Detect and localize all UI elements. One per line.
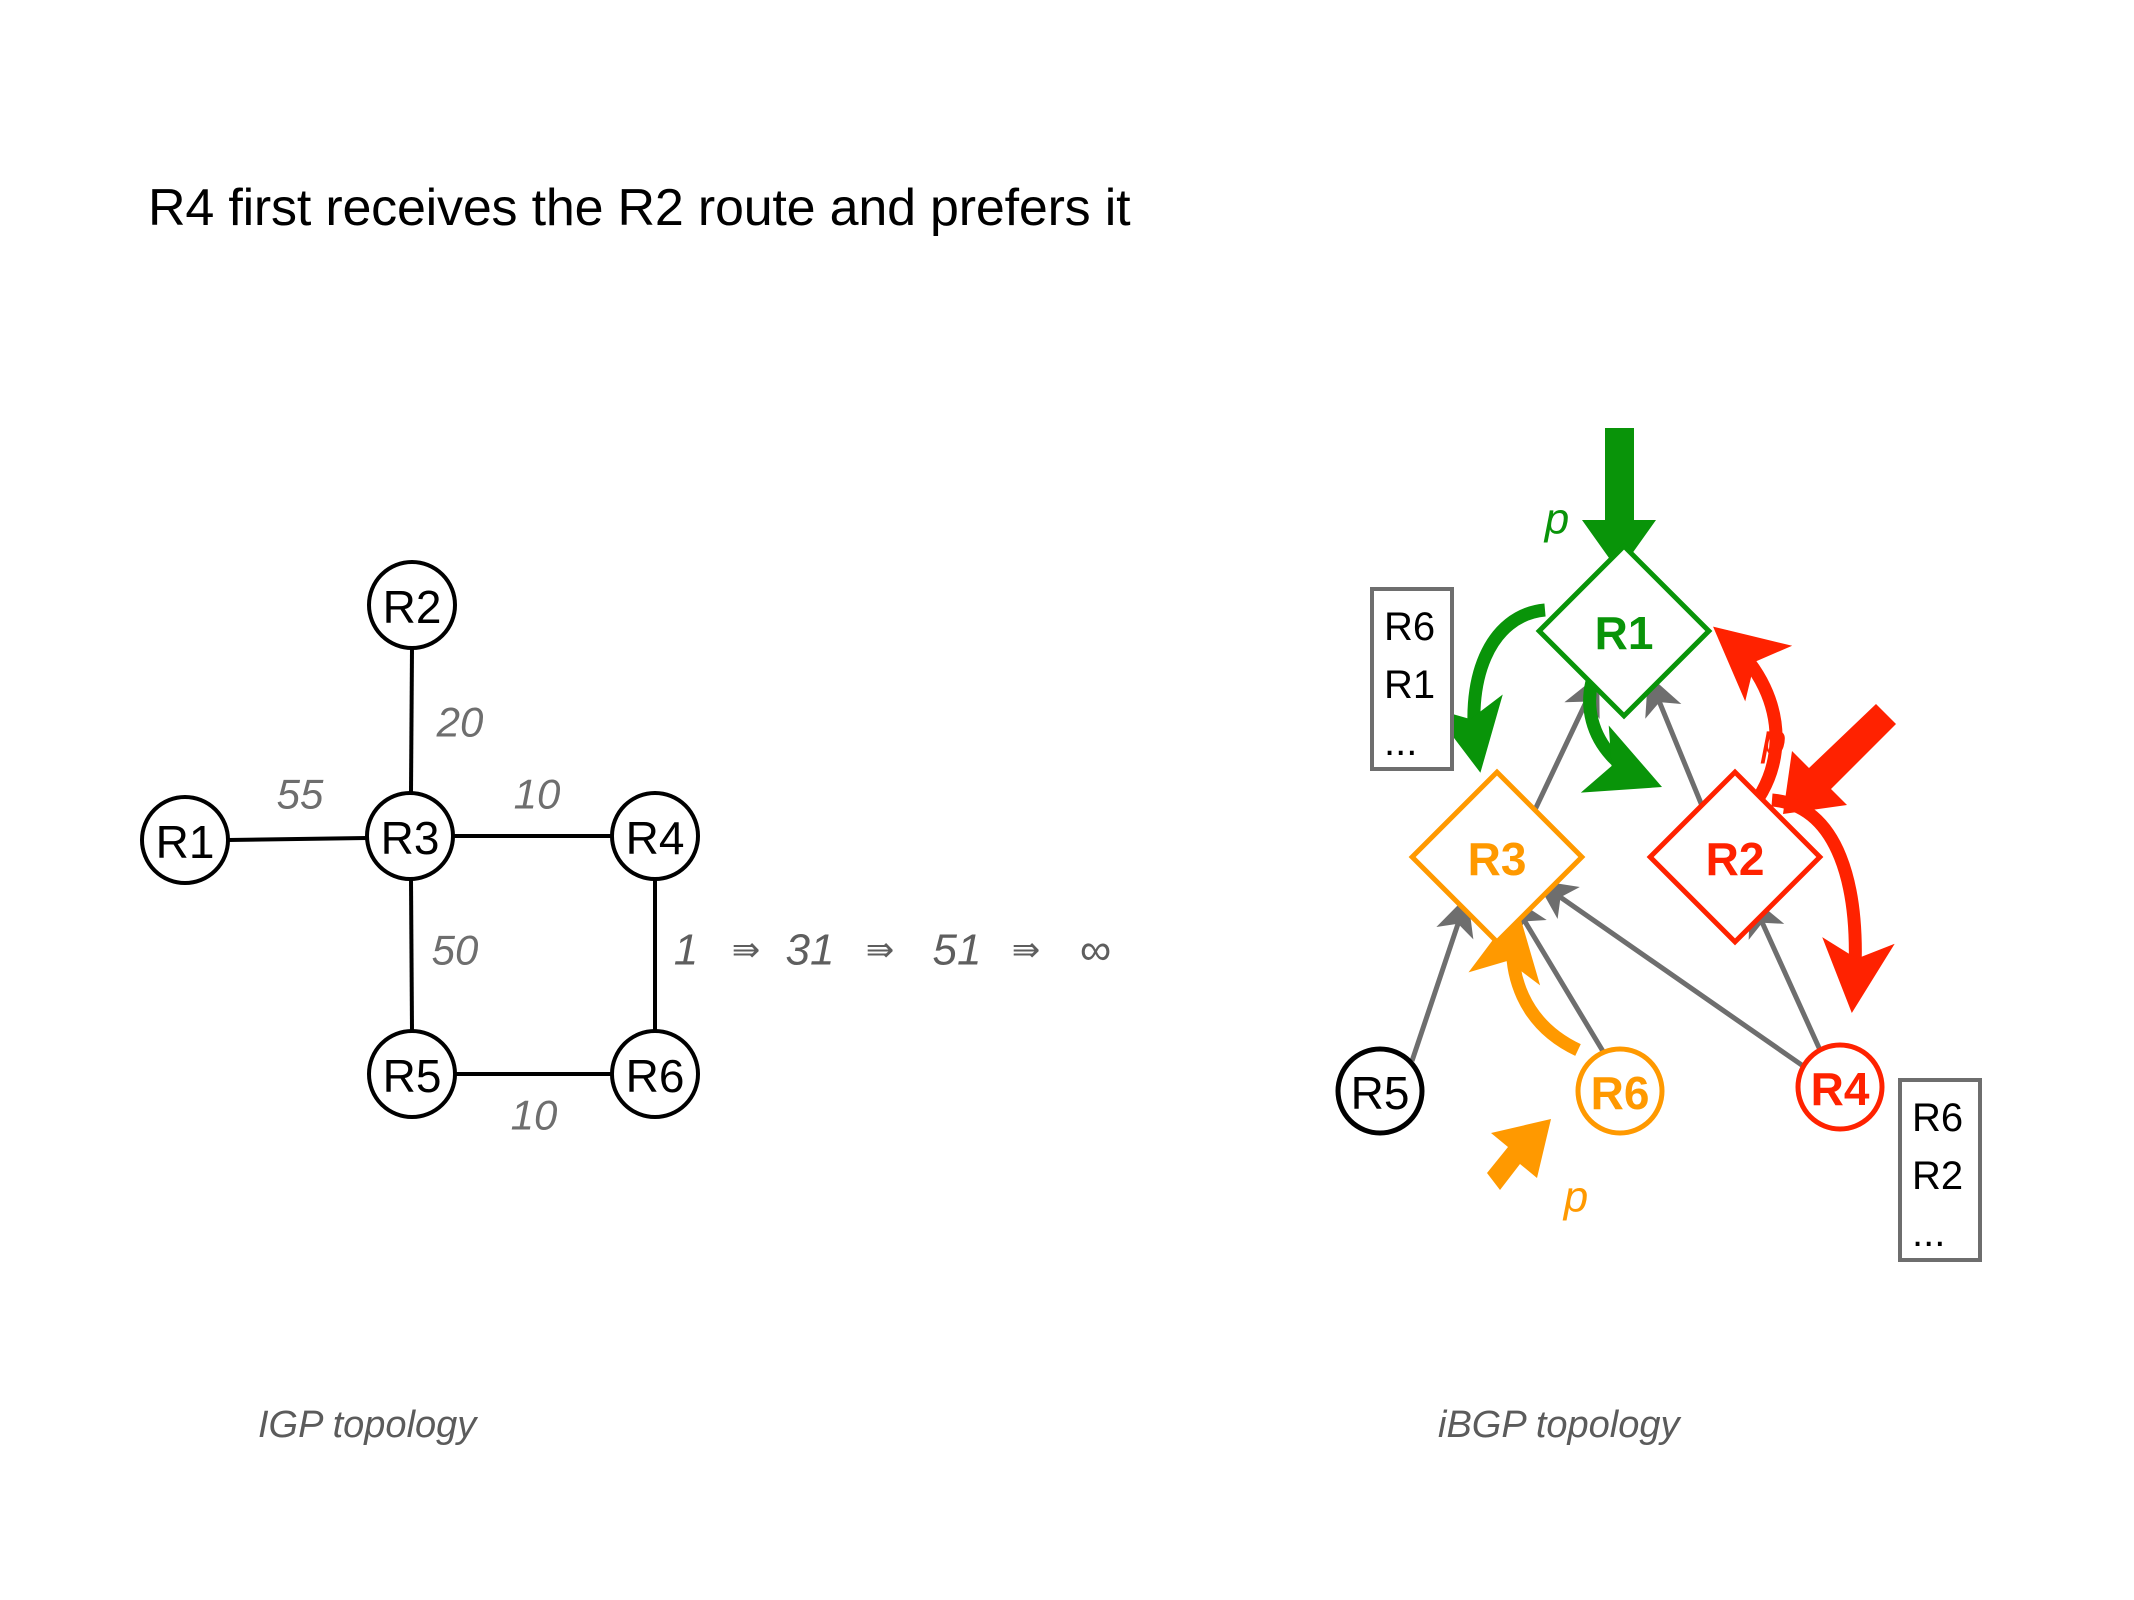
rib-box-right-line-0: R6 — [1912, 1096, 1963, 1140]
rib-box-right-line-1: R2 — [1912, 1154, 1963, 1198]
ann-external-into-r6-label: p — [1562, 1173, 1588, 1222]
rib-box-left-line-2: ... — [1384, 720, 1417, 764]
ibgp-session-r6-r3 — [1512, 900, 1604, 1053]
ibgp-node-r1-label: R1 — [1595, 607, 1654, 659]
rib-box-right-line-2: ... — [1912, 1211, 1945, 1255]
igp-topology-caption: IGP topology — [258, 1404, 476, 1447]
ann-r1-to-r3-arrow — [1474, 610, 1545, 760]
ibgp-topology-caption: iBGP topology — [1438, 1404, 1680, 1447]
rib-box-right: R6 R2 ... — [1900, 1080, 1980, 1260]
ibgp-session-r4-r2 — [1752, 900, 1820, 1050]
ibgp-node-r3-label: R3 — [1468, 833, 1527, 885]
ibgp-session-r5-r3 — [1412, 900, 1466, 1061]
rib-box-left: R6 R1 ... — [1372, 589, 1452, 769]
ann-external-into-r1-label: p — [1543, 495, 1569, 544]
ann-external-into-r2-label: p — [1760, 716, 1786, 765]
ibgp-node-r6-label: R6 — [1591, 1067, 1650, 1119]
ann-r6-to-r3-arrow — [1513, 920, 1578, 1050]
ibgp-topology-diagram: p p p R1 R3 — [0, 0, 2134, 1600]
rib-box-left-line-1: R1 — [1384, 663, 1435, 707]
ibgp-node-r3[interactable]: R3 — [1412, 772, 1582, 942]
ibgp-node-r4[interactable]: R4 — [1798, 1045, 1882, 1129]
ibgp-announce-orange: p — [1487, 920, 1588, 1222]
ibgp-node-r2-label: R2 — [1706, 833, 1765, 885]
ibgp-node-r5-label: R5 — [1351, 1067, 1410, 1119]
ibgp-node-r5[interactable]: R5 — [1338, 1049, 1422, 1133]
ibgp-node-r6[interactable]: R6 — [1578, 1049, 1662, 1133]
ibgp-node-r4-label: R4 — [1811, 1063, 1870, 1115]
slide-canvas: R4 first receives the R2 route and prefe… — [0, 0, 2134, 1600]
ann-external-into-r6-arrow — [1487, 1119, 1551, 1190]
rib-box-left-line-0: R6 — [1384, 605, 1435, 649]
ann-external-into-r2-arrow — [1783, 704, 1896, 814]
ibgp-node-r1[interactable]: R1 — [1539, 546, 1709, 716]
